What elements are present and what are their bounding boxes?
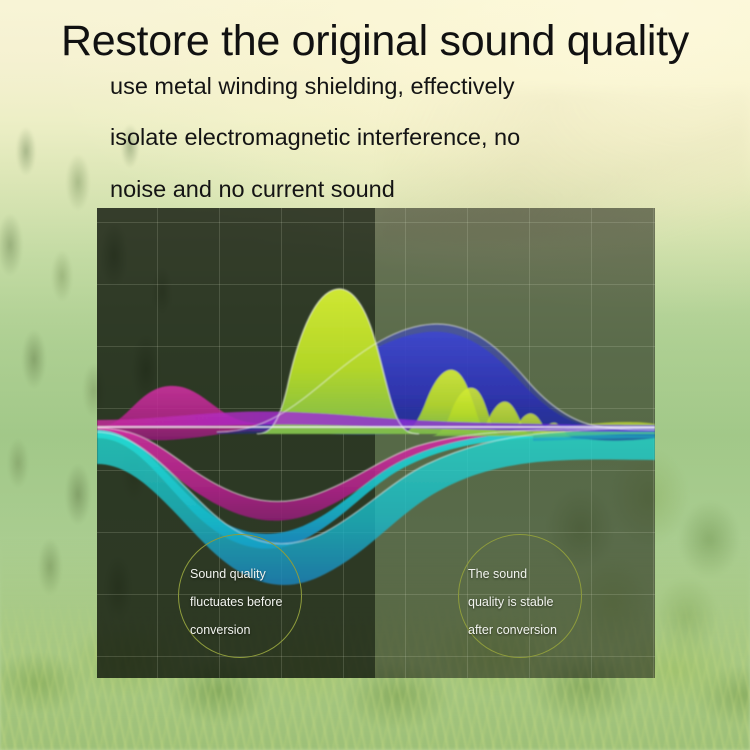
after-caption-line-3: after conversion bbox=[468, 616, 557, 644]
subtitle-line-2: isolate electromagnetic interference, no bbox=[110, 122, 520, 152]
before-caption-line-1: Sound quality bbox=[190, 560, 282, 588]
promo-banner: Restore the original sound quality use m… bbox=[0, 0, 750, 750]
after-conversion-caption: The sound quality is stable after conver… bbox=[468, 560, 557, 644]
before-caption-line-3: conversion bbox=[190, 616, 282, 644]
subtitle-line-3: noise and no current sound bbox=[110, 174, 395, 204]
subtitle-line-1: use metal winding shielding, effectively bbox=[110, 71, 515, 101]
page-title: Restore the original sound quality bbox=[0, 16, 750, 66]
after-caption-line-2: quality is stable bbox=[468, 588, 557, 616]
before-caption-line-2: fluctuates before bbox=[190, 588, 282, 616]
before-conversion-caption: Sound quality fluctuates before conversi… bbox=[190, 560, 282, 644]
after-caption-line-1: The sound bbox=[468, 560, 557, 588]
